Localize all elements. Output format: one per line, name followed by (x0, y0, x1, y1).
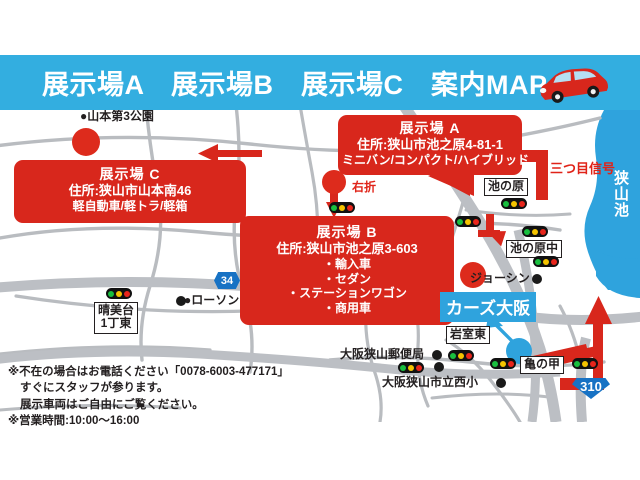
showroom-c-item-0: 軽自動車/軽トラ/軽箱 (18, 199, 242, 214)
label-ikenohara: 池の原 (484, 178, 528, 196)
label-iwamuro-higashi: 岩室東 (446, 326, 490, 344)
signal-ikenohara-naka (522, 226, 548, 237)
map-flyer: 展示場A 展示場B 展示場C 案内MAP (0, 0, 640, 480)
showroom-a-address: 住所:狭山市池之原4-81-1 (342, 137, 518, 153)
route-shield-34: 34 (214, 272, 240, 289)
harumidai-line1: 晴美台 (98, 303, 134, 317)
label-turn-right: 右折 (352, 178, 376, 195)
label-nishi-elementary: 大阪狭山市立西小 (382, 376, 478, 389)
dot-nishi-elementary (496, 378, 506, 388)
signal-iwamuro-west (398, 362, 424, 373)
label-post-office: 大阪狭山郵便局 (340, 348, 424, 361)
header-bar: 展示場A 展示場B 展示場C 案内MAP (0, 55, 640, 110)
showroom-b-item-1: ・セダン (244, 272, 450, 287)
dot-lawson (176, 296, 186, 306)
signal-joshin (533, 256, 559, 267)
callout-showroom-c[interactable]: 展示場 C 住所:狭山市山本南46 軽自動車/軽トラ/軽箱 (14, 160, 246, 223)
label-harumidai: 晴美台 1丁東 (94, 302, 138, 334)
showroom-b-address: 住所:狭山市池之原3-603 (244, 241, 450, 257)
note-line-1: ※不在の場合はお電話ください「0078-6003-477171」 (8, 364, 289, 380)
label-lawson: ●ローソン (184, 294, 239, 307)
note-line-4: ※営業時間:10:00〜16:00 (8, 413, 289, 429)
signal-left-mid (455, 216, 481, 227)
signal-east (490, 358, 516, 369)
footer-notes: ※不在の場合はお電話ください「0078-6003-477171」 すぐにスタッフ… (8, 364, 289, 429)
showroom-b-item-2: ・ステーションワゴン (244, 286, 450, 301)
signal-post-office (448, 350, 474, 361)
red-car-icon (532, 63, 612, 103)
showroom-c-title: 展示場 C (18, 166, 242, 183)
showroom-c-address: 住所:狭山市山本南46 (18, 183, 242, 199)
label-joshin: ジョーシン (470, 272, 530, 285)
route-dot-c (72, 128, 100, 156)
dealer-tag-cars-osaka[interactable]: カーズ大阪 (440, 292, 536, 322)
signal-ikenohara (501, 198, 527, 209)
signal-kame-no-ko (572, 358, 598, 369)
harumidai-line2: 1丁東 (101, 316, 132, 330)
note-line-3: 展示車両はご自由にご覧ください。 (8, 397, 289, 413)
label-yamamoto-park: ●山本第3公園 (80, 110, 154, 123)
callout-showroom-b[interactable]: 展示場 B 住所:狭山市池之原3-603 ・輸入車 ・セダン ・ステーションワゴ… (240, 216, 454, 325)
label-kame-no-ko: 亀の甲 (520, 356, 564, 374)
callout-showroom-a[interactable]: 展示場 A 住所:狭山市池之原4-81-1 ミニバン/コンパクト/ハイブリッド (338, 115, 522, 175)
showroom-a-item-0: ミニバン/コンパクト/ハイブリッド (342, 153, 518, 168)
label-third-signal: 三つ目信号 (550, 158, 615, 177)
label-sayama-pond: 狭山池 (610, 170, 631, 218)
dot-post-office (432, 350, 442, 360)
page-title: 展示場A 展示場B 展示場C 案内MAP (42, 63, 548, 102)
dot-iwamuro (434, 362, 444, 372)
label-ikenohara-naka: 池の原中 (506, 240, 562, 258)
signal-turn-right (329, 202, 355, 213)
dot-joshin (532, 274, 542, 284)
showroom-b-item-0: ・輸入車 (244, 257, 450, 272)
note-line-2: すぐにスタッフが参ります。 (8, 380, 289, 396)
signal-harumidai (106, 288, 132, 299)
showroom-b-title: 展示場 B (244, 224, 450, 241)
showroom-b-item-3: ・商用車 (244, 301, 450, 316)
showroom-a-title: 展示場 A (342, 120, 518, 137)
